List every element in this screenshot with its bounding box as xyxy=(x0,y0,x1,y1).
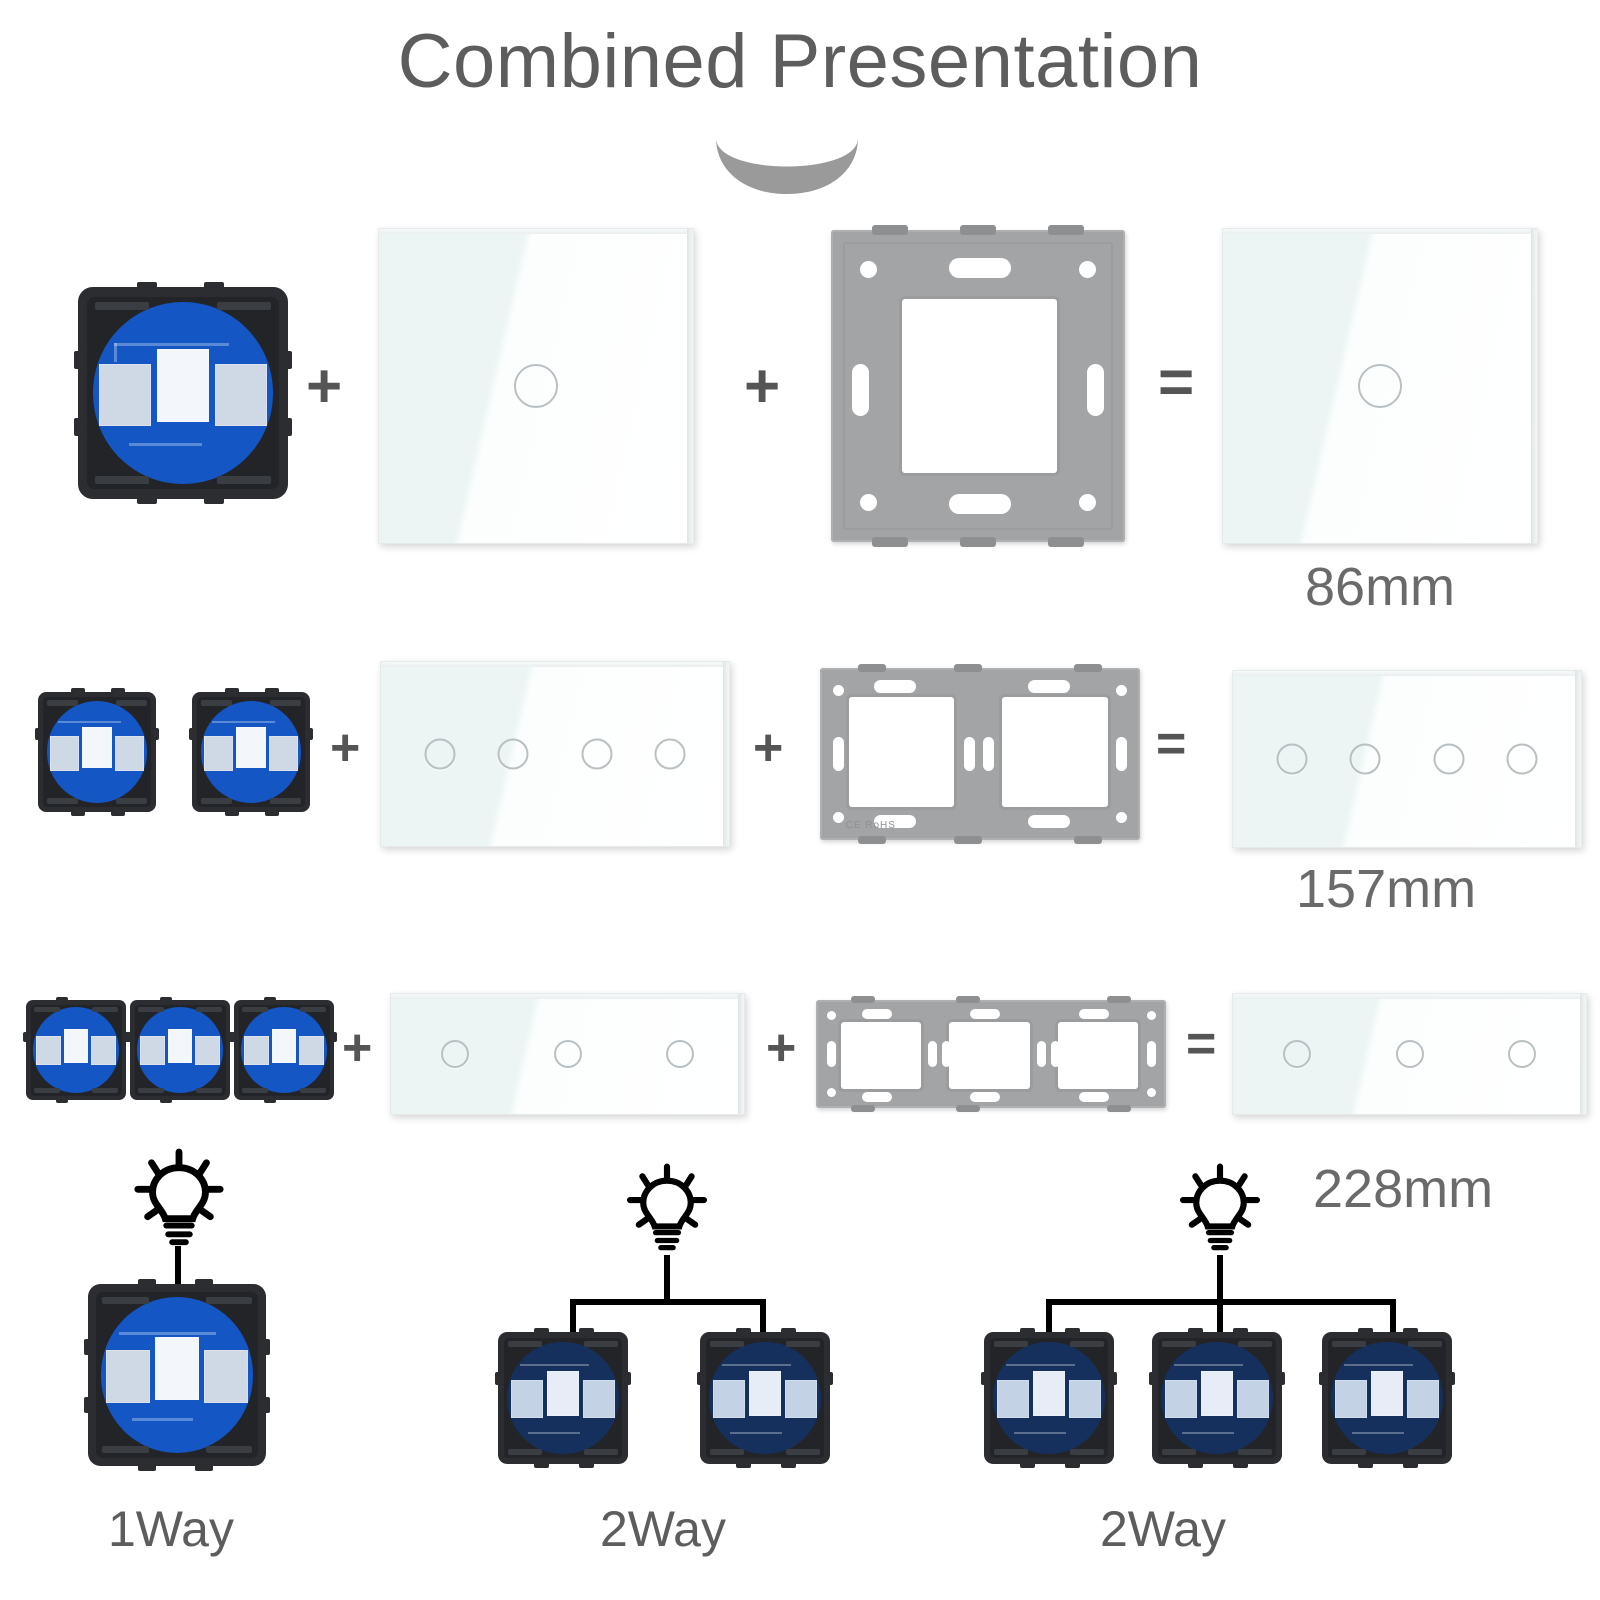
relay xyxy=(168,1029,193,1063)
pcb-trace xyxy=(520,1364,589,1366)
dimension-label-86mm: 86mm xyxy=(1305,556,1455,618)
corner-clip xyxy=(102,1446,148,1453)
relay xyxy=(1371,1371,1403,1416)
frame-cutout xyxy=(1002,697,1108,807)
corner-clip xyxy=(1238,1449,1272,1455)
mount-tab xyxy=(84,1397,93,1413)
frame-slot xyxy=(1079,1092,1109,1102)
frame-nub xyxy=(1074,664,1102,672)
glass-panel-3gang[interactable] xyxy=(390,993,745,1115)
frame-slot xyxy=(1087,364,1104,416)
touch-button[interactable] xyxy=(1396,1040,1424,1068)
relay xyxy=(195,1036,220,1065)
mount-tab xyxy=(195,1461,213,1471)
touch-button[interactable] xyxy=(1358,364,1402,408)
relay xyxy=(269,736,298,771)
relay-group xyxy=(140,1036,220,1065)
mount-tab xyxy=(781,1328,796,1336)
pcb-trace xyxy=(1006,1364,1075,1366)
relay xyxy=(785,1380,817,1418)
wiring-label-2way-two: 2Way xyxy=(600,1500,726,1558)
relay xyxy=(106,1350,150,1403)
frame-nub xyxy=(954,664,982,672)
result-panel-2gang[interactable] xyxy=(1232,670,1582,848)
touch-button[interactable] xyxy=(581,739,612,770)
relay xyxy=(1033,1371,1065,1416)
mount-tab xyxy=(195,1279,213,1289)
corner-clip xyxy=(217,302,272,310)
frame-slot xyxy=(949,494,1011,514)
wire-vertical xyxy=(664,1255,670,1303)
corner-clip xyxy=(206,1297,252,1304)
mount-tab xyxy=(1319,1372,1326,1385)
relay xyxy=(115,736,144,771)
corner-clip xyxy=(710,1341,744,1347)
relay xyxy=(749,1371,781,1416)
frame-screw-hole xyxy=(1147,1011,1156,1020)
corner-clip xyxy=(508,1341,542,1347)
pcb-trace xyxy=(730,1432,782,1434)
relay xyxy=(547,1371,579,1416)
frame-nub xyxy=(1107,1105,1131,1112)
corner-clip xyxy=(138,1088,164,1093)
frame-slot xyxy=(1147,1041,1156,1067)
frame-cutout xyxy=(902,299,1058,474)
mount-tab xyxy=(71,688,85,696)
relay-group xyxy=(997,1380,1101,1418)
relay-group xyxy=(511,1380,615,1418)
mount-tab xyxy=(495,1372,502,1385)
pcb-trace xyxy=(1182,1432,1234,1434)
frame-nub xyxy=(1107,996,1131,1003)
touch-button[interactable] xyxy=(1350,744,1381,775)
mount-tab xyxy=(1358,1328,1373,1336)
mount-tab xyxy=(826,1372,833,1385)
mount-tab xyxy=(204,282,224,293)
frame-slot xyxy=(833,737,844,771)
relay xyxy=(1407,1380,1439,1418)
mount-tab xyxy=(1233,1460,1248,1468)
switch-module[interactable] xyxy=(88,1284,266,1466)
panel-edge-top xyxy=(1223,229,1537,234)
mount-tab xyxy=(137,282,157,293)
frame-screw-hole xyxy=(1079,494,1096,511)
frame-slot xyxy=(852,364,869,416)
mount-tab xyxy=(265,688,279,696)
plus-operator: + xyxy=(744,356,780,418)
page-title: Combined Presentation xyxy=(0,18,1600,105)
relay xyxy=(204,736,233,771)
relay-group xyxy=(713,1380,817,1418)
module-body xyxy=(1328,1338,1446,1458)
mount-tab xyxy=(282,418,292,436)
panel-edge-right xyxy=(738,994,744,1114)
corner-clip xyxy=(786,1341,820,1347)
mount-tab xyxy=(160,997,172,1004)
frame-slot xyxy=(942,1041,951,1067)
mount-tab xyxy=(111,688,125,696)
frame-nub xyxy=(851,996,875,1003)
switch-module[interactable] xyxy=(498,1332,628,1464)
mount-tab xyxy=(1233,1328,1248,1336)
corner-clip xyxy=(1162,1449,1196,1455)
panel-edge-right xyxy=(687,229,693,543)
corner-clip xyxy=(138,1007,164,1012)
plus-operator: + xyxy=(766,1022,796,1074)
touch-button[interactable] xyxy=(666,1040,694,1068)
corner-clip xyxy=(242,1088,268,1093)
mount-tab xyxy=(74,351,84,369)
panel-edge-top xyxy=(381,662,729,667)
frame-cutout xyxy=(949,1022,1030,1089)
frame-nub xyxy=(956,1105,980,1112)
mount-tab xyxy=(1065,1328,1080,1336)
pcb-trace xyxy=(1014,1432,1066,1434)
corner-clip xyxy=(196,1088,222,1093)
frame-nub xyxy=(858,836,886,844)
module-body xyxy=(706,1338,824,1458)
switch-module[interactable] xyxy=(1152,1332,1282,1464)
pcb-trace xyxy=(722,1364,791,1366)
corner-clip xyxy=(300,1007,326,1012)
frame-slot xyxy=(1051,1041,1060,1067)
mount-tab xyxy=(1065,1460,1080,1468)
frame-cutout xyxy=(1058,1022,1139,1089)
wire-horizontal-bus xyxy=(570,1299,766,1305)
corner-clip xyxy=(116,798,147,804)
glass-panel-2gang[interactable] xyxy=(380,661,730,847)
frame-nub xyxy=(851,1105,875,1112)
corner-clip xyxy=(34,1007,60,1012)
frame-nub xyxy=(872,537,908,547)
frame-screw-hole xyxy=(1147,1088,1156,1097)
corner-clip xyxy=(1332,1341,1366,1347)
switch-module[interactable] xyxy=(78,287,288,499)
relay xyxy=(64,1029,89,1063)
mount-tab xyxy=(23,1032,29,1042)
switch-module[interactable] xyxy=(234,1000,334,1100)
frame-nub xyxy=(1048,537,1084,547)
pcb-trace xyxy=(132,1418,194,1421)
mount-tab xyxy=(697,1372,704,1385)
mount-tab xyxy=(1110,1372,1117,1385)
module-body xyxy=(87,297,278,490)
mount-tab xyxy=(282,351,292,369)
relay xyxy=(244,1036,269,1065)
relay xyxy=(511,1380,543,1418)
touch-button[interactable] xyxy=(1506,744,1537,775)
plus-operator: + xyxy=(342,1022,372,1074)
switch-module[interactable] xyxy=(1322,1332,1452,1464)
mount-tab xyxy=(1403,1328,1418,1336)
mount-tab xyxy=(1149,1372,1156,1385)
relay xyxy=(299,1036,324,1065)
frame-nub xyxy=(858,664,886,672)
result-panel-1gang[interactable] xyxy=(1222,228,1538,544)
frame-slot xyxy=(1028,815,1070,828)
frame-nub xyxy=(960,225,996,235)
mount-tab xyxy=(1188,1328,1203,1336)
pcb-trace xyxy=(114,343,117,362)
switch-module[interactable] xyxy=(700,1332,830,1464)
relay xyxy=(1165,1380,1197,1418)
touch-button[interactable] xyxy=(425,739,456,770)
corner-clip xyxy=(710,1449,744,1455)
frame-screw-hole xyxy=(1116,812,1127,823)
frame-screw-hole xyxy=(833,812,844,823)
frame-slot xyxy=(928,1041,937,1067)
corner-clip xyxy=(47,798,78,804)
mount-tab xyxy=(84,1339,93,1355)
corner-clip xyxy=(786,1449,820,1455)
pcb-trace xyxy=(119,1332,216,1335)
switch-module[interactable] xyxy=(130,1000,230,1100)
mount-tab xyxy=(981,1372,988,1385)
mount-tab xyxy=(204,493,224,504)
relay xyxy=(36,1036,61,1065)
corner-clip xyxy=(95,302,150,310)
relay xyxy=(713,1380,745,1418)
panel-edge-top xyxy=(391,994,744,999)
touch-button[interactable] xyxy=(441,1040,469,1068)
mount-tab xyxy=(231,1032,237,1042)
frame-slot xyxy=(862,1092,892,1102)
mount-tab xyxy=(624,1372,631,1385)
mount-tab xyxy=(189,728,196,740)
light-bulb-icon xyxy=(130,1148,228,1256)
curved-arc-divider-icon xyxy=(712,136,862,198)
relay xyxy=(583,1380,615,1418)
frame-slot xyxy=(1028,680,1070,693)
corner-clip xyxy=(1070,1341,1104,1347)
mount-tab xyxy=(35,728,42,740)
corner-clip xyxy=(508,1449,542,1455)
corner-clip xyxy=(201,700,232,706)
frame-slot xyxy=(970,1092,1000,1102)
pcb-trace xyxy=(1352,1432,1404,1434)
corner-clip xyxy=(1408,1449,1442,1455)
plus-operator: + xyxy=(753,722,783,774)
mount-tab xyxy=(71,808,85,816)
mount-tab xyxy=(56,1096,68,1103)
mount-tab xyxy=(138,1461,156,1471)
relay-group xyxy=(1335,1380,1439,1418)
equals-operator: = xyxy=(1186,1018,1216,1070)
touch-button[interactable] xyxy=(1508,1040,1536,1068)
touch-button[interactable] xyxy=(498,739,529,770)
module-body xyxy=(96,1292,258,1458)
relay xyxy=(1335,1380,1367,1418)
relay xyxy=(1201,1371,1233,1416)
dimension-label-228mm: 228mm xyxy=(1313,1158,1493,1220)
relay xyxy=(236,727,265,768)
pcb-trace xyxy=(528,1432,580,1434)
frame-nub xyxy=(956,996,980,1003)
corner-clip xyxy=(1238,1341,1272,1347)
light-bulb-icon xyxy=(623,1163,711,1260)
module-body xyxy=(1158,1338,1276,1458)
module-body xyxy=(239,1005,330,1096)
mount-tab xyxy=(1278,1372,1285,1385)
touch-button[interactable] xyxy=(514,364,558,408)
corner-clip xyxy=(1408,1341,1442,1347)
mount-tab xyxy=(152,728,159,740)
equals-operator: = xyxy=(1158,352,1194,414)
mount-tab xyxy=(160,1096,172,1103)
corner-clip xyxy=(300,1088,326,1093)
pcb-trace xyxy=(114,343,229,346)
mount-tab xyxy=(306,728,313,740)
corner-clip xyxy=(116,700,147,706)
module-body xyxy=(990,1338,1108,1458)
relay-group xyxy=(99,364,267,426)
mount-tab xyxy=(534,1460,549,1468)
corner-clip xyxy=(95,476,150,484)
frame-nub xyxy=(1048,225,1084,235)
relay-group xyxy=(50,736,144,771)
frame-slot xyxy=(1116,737,1127,771)
mount-tab xyxy=(56,997,68,1004)
frame-slot xyxy=(874,680,916,693)
relay xyxy=(1237,1380,1269,1418)
frame-screw-hole xyxy=(1079,261,1096,278)
frame-slot xyxy=(1079,1009,1109,1019)
frame-slot xyxy=(964,737,975,771)
pcb-trace xyxy=(58,721,120,723)
plus-operator: + xyxy=(306,356,342,418)
corner-clip xyxy=(242,1007,268,1012)
wire-vertical xyxy=(1217,1255,1223,1303)
panel-edge-right xyxy=(1575,671,1581,847)
relay xyxy=(272,1029,297,1063)
mount-tab xyxy=(579,1328,594,1336)
relay xyxy=(1069,1380,1101,1418)
mount-tab xyxy=(1188,1460,1203,1468)
touch-button[interactable] xyxy=(1283,1040,1311,1068)
mount-tab xyxy=(137,493,157,504)
mount-tab xyxy=(579,1460,594,1468)
frame-slot xyxy=(862,1009,892,1019)
mount-tab xyxy=(111,808,125,816)
frame-slot xyxy=(1037,1041,1046,1067)
mount-tab xyxy=(74,418,84,436)
relay xyxy=(997,1380,1029,1418)
mounting-frame-1gang[interactable] xyxy=(831,230,1125,542)
dimension-label-157mm: 157mm xyxy=(1296,858,1476,920)
corner-clip xyxy=(34,1088,60,1093)
module-body xyxy=(135,1005,226,1096)
frame-screw-hole xyxy=(827,1088,836,1097)
relay xyxy=(82,727,111,768)
switch-module[interactable] xyxy=(38,692,156,812)
panel-edge-right xyxy=(723,662,729,846)
frame-nub xyxy=(954,836,982,844)
relay-group xyxy=(1165,1380,1269,1418)
touch-button[interactable] xyxy=(1433,744,1464,775)
corner-clip xyxy=(92,1007,118,1012)
frame-screw-hole xyxy=(1116,685,1127,696)
relay xyxy=(140,1036,165,1065)
light-bulb-icon xyxy=(1176,1163,1264,1260)
pcb-trace xyxy=(1174,1364,1243,1366)
frame-nub xyxy=(872,225,908,235)
relay-group xyxy=(36,1036,116,1065)
mount-tab xyxy=(1403,1460,1418,1468)
relay-group xyxy=(204,736,298,771)
glass-panel-1gang[interactable] xyxy=(378,228,694,544)
frame-screw-hole xyxy=(833,685,844,696)
mounting-frame-2gang[interactable]: CE RoHS xyxy=(820,668,1140,840)
touch-button[interactable] xyxy=(654,739,685,770)
mount-tab xyxy=(138,1279,156,1289)
frame-ce-rohs-marking: CE RoHS xyxy=(846,820,896,831)
relay xyxy=(204,1350,248,1403)
relay xyxy=(50,736,79,771)
mount-tab xyxy=(1448,1372,1455,1385)
corner-clip xyxy=(1162,1341,1196,1347)
mount-tab xyxy=(736,1328,751,1336)
relay xyxy=(215,364,267,426)
switch-module[interactable] xyxy=(984,1332,1114,1464)
corner-clip xyxy=(217,476,272,484)
panel-edge-right xyxy=(1531,229,1537,543)
frame-cutout xyxy=(841,1022,922,1089)
mount-tab xyxy=(225,808,239,816)
frame-slot xyxy=(970,1009,1000,1019)
frame-slot xyxy=(983,737,994,771)
pcb-trace xyxy=(212,721,274,723)
frame-slot xyxy=(949,258,1011,278)
mount-tab xyxy=(534,1328,549,1336)
module-body xyxy=(504,1338,622,1458)
wiring-label-1way: 1Way xyxy=(108,1500,234,1558)
mount-tab xyxy=(261,1397,270,1413)
mount-tab xyxy=(264,997,276,1004)
relay xyxy=(155,1337,199,1400)
frame-slot xyxy=(827,1041,836,1067)
relay xyxy=(99,364,151,426)
mounting-frame-3gang[interactable] xyxy=(816,1000,1166,1108)
result-panel-3gang[interactable] xyxy=(1232,993,1587,1115)
touch-button[interactable] xyxy=(554,1040,582,1068)
frame-nub xyxy=(960,537,996,547)
touch-button[interactable] xyxy=(1277,744,1308,775)
mount-tab xyxy=(1020,1460,1035,1468)
mount-tab xyxy=(1358,1460,1373,1468)
pcb-trace xyxy=(1344,1364,1413,1366)
plus-operator: + xyxy=(330,722,360,774)
corner-clip xyxy=(994,1341,1028,1347)
mount-tab xyxy=(261,1339,270,1355)
module-body xyxy=(31,1005,122,1096)
switch-module[interactable] xyxy=(26,1000,126,1100)
corner-clip xyxy=(206,1446,252,1453)
mount-tab xyxy=(127,1032,133,1042)
corner-clip xyxy=(270,700,301,706)
switch-module[interactable] xyxy=(192,692,310,812)
corner-clip xyxy=(270,798,301,804)
mount-tab xyxy=(1020,1328,1035,1336)
corner-clip xyxy=(196,1007,222,1012)
corner-clip xyxy=(47,700,78,706)
mount-tab xyxy=(331,1032,337,1042)
module-body xyxy=(43,697,150,806)
panel-edge-right xyxy=(1580,994,1586,1114)
corner-clip xyxy=(994,1449,1028,1455)
mount-tab xyxy=(781,1460,796,1468)
mount-tab xyxy=(264,1096,276,1103)
mount-tab xyxy=(736,1460,751,1468)
